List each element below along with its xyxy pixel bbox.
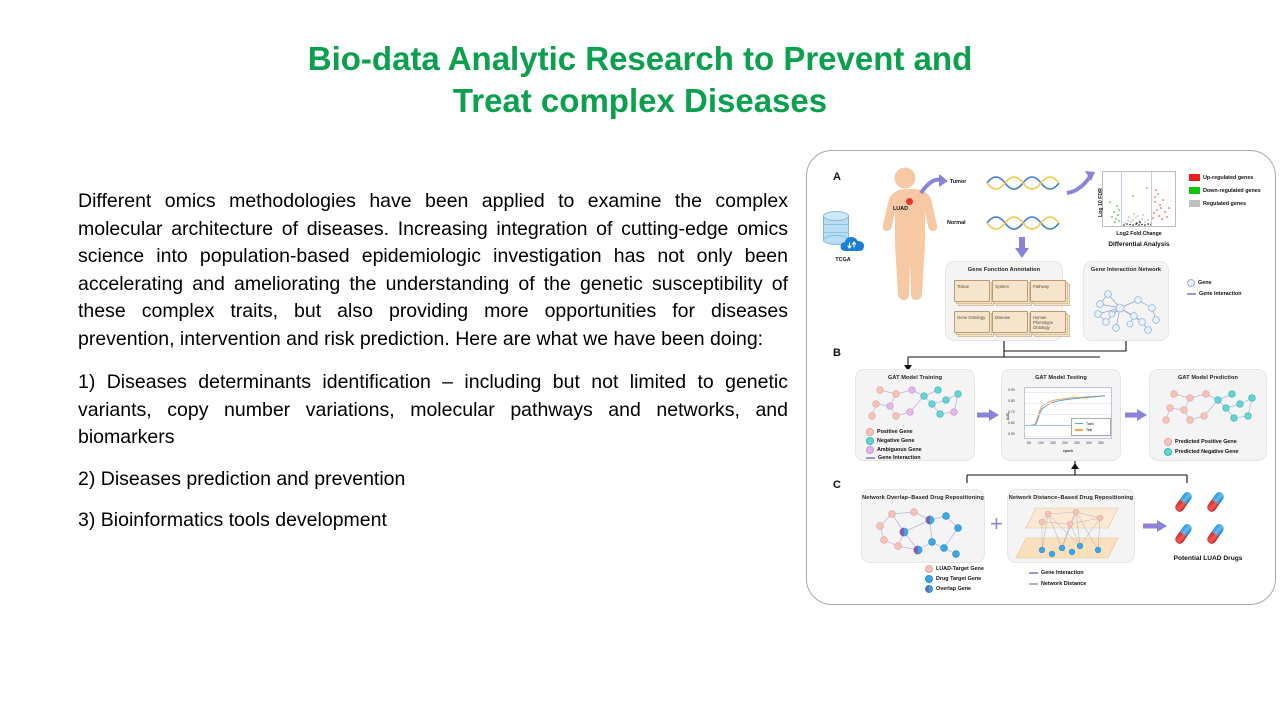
normal-label: Normal bbox=[947, 220, 966, 226]
swatch-regulated bbox=[1189, 200, 1200, 207]
intro-paragraph: Different omics methodologies have been … bbox=[78, 188, 788, 353]
distance-graph bbox=[1014, 504, 1130, 562]
auc-xtick: 200 bbox=[1062, 441, 1068, 445]
auc-xtick: 350 bbox=[1098, 441, 1104, 445]
legend-label: Predicted Negative Gene bbox=[1175, 449, 1239, 455]
gat-model-training-card: GAT Model Training bbox=[855, 369, 975, 461]
luad-marker-dot bbox=[906, 198, 913, 205]
volcano-caption: Differential Analysis bbox=[1095, 241, 1183, 248]
swatch-negative-gene bbox=[866, 437, 874, 445]
swatch-drug-target-gene bbox=[925, 575, 933, 583]
annotation-card: Pathway bbox=[1030, 280, 1066, 302]
legend-label: Predicted Positive Gene bbox=[1175, 439, 1237, 445]
auc-xtick: 250 bbox=[1074, 441, 1080, 445]
swatch-network-distance bbox=[1029, 583, 1038, 584]
legend-label: Up-regulated genes bbox=[1203, 175, 1253, 181]
arrow-to-annotation-icon bbox=[1015, 237, 1029, 259]
title-line-2: Treat complex Diseases bbox=[140, 80, 1140, 122]
volcano-x-axis-label: Log2 Fold Change bbox=[1102, 231, 1176, 237]
gene-interaction-network-card: Gene Interaction Network bbox=[1083, 261, 1169, 341]
legend-label: Positive Gene bbox=[877, 429, 913, 435]
auc-plot: Train Test bbox=[1024, 387, 1112, 439]
legend-item-regulated: Regulated genes bbox=[1189, 200, 1246, 207]
legend-label: Train bbox=[1086, 422, 1094, 426]
legend-label: Overlap Gene bbox=[936, 586, 971, 592]
legend-item-drug-target-gene: Drug Target Gene bbox=[925, 575, 981, 583]
swatch-positive-gene bbox=[866, 428, 874, 436]
legend-item-gene-interaction: Gene Interaction bbox=[1029, 570, 1084, 576]
volcano-points bbox=[1103, 172, 1177, 228]
page-title: Bio-data Analytic Research to Prevent an… bbox=[140, 38, 1140, 122]
drug-capsule-icon bbox=[1174, 490, 1194, 513]
legend-label: Test bbox=[1086, 428, 1092, 432]
legend-item-predicted-positive: Predicted Positive Gene bbox=[1164, 438, 1237, 446]
connector-b-to-c bbox=[915, 461, 1195, 491]
card-title: Gene Interaction Network bbox=[1084, 267, 1168, 273]
legend-item-predicted-negative: Predicted Negative Gene bbox=[1164, 448, 1239, 456]
arrow-to-tumor-icon bbox=[919, 173, 949, 197]
tumor-label: Tumor bbox=[950, 179, 966, 185]
panel-label-c: C bbox=[833, 479, 841, 491]
connector-a-to-b bbox=[903, 341, 1133, 371]
swatch-overlap-gene bbox=[925, 585, 933, 593]
gat-model-testing-card: GAT Model Testing Train Test bbox=[1001, 369, 1121, 461]
legend-label: Down-regulated genes bbox=[1203, 188, 1261, 194]
legend-label: Gene bbox=[1198, 280, 1211, 286]
volcano-y-axis-label: Log 10 FDR bbox=[1098, 188, 1104, 217]
body-text-column: Different omics methodologies have been … bbox=[78, 188, 788, 549]
panel-label-a: A bbox=[833, 171, 841, 183]
drug-capsule-icon bbox=[1206, 522, 1226, 545]
card-title: GAT Model Prediction bbox=[1150, 375, 1266, 381]
swatch-gene-interaction bbox=[1029, 572, 1038, 573]
annotation-card: Disease bbox=[992, 311, 1028, 333]
gene-function-annotation-card: Gene Function Annotation Tissue System P… bbox=[945, 261, 1063, 341]
card-title: GAT Model Training bbox=[856, 375, 974, 381]
list-item: 2) Diseases prediction and prevention bbox=[78, 466, 788, 494]
legend-label: Ambiguous Gene bbox=[877, 447, 922, 453]
legend-item-gene-interaction: Gene Interaction bbox=[1187, 291, 1242, 297]
prediction-graph bbox=[1160, 386, 1262, 434]
database-label: TCGA bbox=[823, 257, 863, 263]
auc-ytick: 0.60 bbox=[1008, 421, 1015, 425]
auc-x-axis-label: epoch bbox=[1024, 449, 1112, 453]
card-title: GAT Model Testing bbox=[1002, 375, 1120, 381]
card-title: Gene Function Annotation bbox=[946, 267, 1062, 273]
annotation-card: Tissue bbox=[954, 280, 990, 302]
swatch-down-regulated bbox=[1189, 187, 1200, 194]
legend-item-overlap-gene: Overlap Gene bbox=[925, 585, 971, 593]
auc-xtick: 300 bbox=[1086, 441, 1092, 445]
network-overlap-card: Network Overlap–Based Drug Repositioning bbox=[861, 489, 985, 563]
legend-label: Gene Interaction bbox=[1041, 570, 1084, 576]
panel-label-b: B bbox=[833, 347, 841, 359]
arrow-training-to-testing-icon bbox=[977, 409, 999, 421]
legend-item-gene-interaction: Gene Interaction bbox=[866, 455, 921, 461]
overlap-graph bbox=[870, 504, 978, 562]
swatch-up-regulated bbox=[1189, 174, 1200, 181]
legend-item-ambiguous-gene: Ambiguous Gene bbox=[866, 446, 922, 454]
legend-label: Network Distance bbox=[1041, 581, 1086, 587]
swatch-gene-interaction bbox=[1187, 293, 1196, 294]
arrow-to-volcano-icon bbox=[1065, 169, 1099, 197]
legend-item-negative-gene: Negative Gene bbox=[866, 437, 914, 445]
potential-drugs-label: Potential LUAD Drugs bbox=[1155, 555, 1261, 562]
auc-ytick: 0.80 bbox=[1008, 399, 1015, 403]
legend-label: Drug Target Gene bbox=[936, 576, 981, 582]
auc-y-axis-label: AUC bbox=[1006, 413, 1010, 420]
network-distance-card: Network Distance–Based Drug Repositionin… bbox=[1007, 489, 1135, 563]
auc-xtick: 100 bbox=[1038, 441, 1044, 445]
cloud-sync-icon bbox=[840, 235, 865, 253]
legend-label: Regulated genes bbox=[1203, 201, 1246, 207]
luad-label: LUAD bbox=[893, 206, 908, 212]
legend-label: Gene Interaction bbox=[1199, 291, 1242, 297]
dna-helix-normal-icon bbox=[987, 215, 1059, 231]
swatch-ambiguous-gene bbox=[866, 446, 874, 454]
swatch-test bbox=[1075, 429, 1083, 430]
workflow-figure: A TCGA LUAD Tumor Normal bbox=[806, 150, 1276, 605]
annotation-card: Gene Ontology bbox=[954, 311, 990, 333]
title-line-1: Bio-data Analytic Research to Prevent an… bbox=[308, 40, 972, 77]
swatch-gene bbox=[1187, 279, 1195, 287]
auc-legend: Train Test bbox=[1071, 418, 1111, 436]
annotation-card: System bbox=[992, 280, 1028, 302]
drug-capsule-icon bbox=[1206, 490, 1226, 513]
swatch-predicted-negative bbox=[1164, 448, 1172, 456]
drug-capsule-icon bbox=[1174, 522, 1194, 545]
swatch-predicted-positive bbox=[1164, 438, 1172, 446]
legend-item-up-regulated: Up-regulated genes bbox=[1189, 174, 1253, 181]
network-graph bbox=[1090, 278, 1164, 338]
swatch-train bbox=[1075, 423, 1083, 424]
legend-item-network-distance: Network Distance bbox=[1029, 581, 1086, 587]
card-title: Network Distance–Based Drug Repositionin… bbox=[1008, 495, 1134, 501]
legend-item-gene: Gene bbox=[1187, 279, 1211, 287]
legend-item-positive-gene: Positive Gene bbox=[866, 428, 913, 436]
slide-root: Bio-data Analytic Research to Prevent an… bbox=[0, 0, 1280, 720]
swatch-luad-target-gene bbox=[925, 565, 933, 573]
legend-label: LUAD-Target Gene bbox=[936, 566, 984, 572]
card-title: Network Overlap–Based Drug Repositioning bbox=[862, 495, 984, 501]
training-graph bbox=[866, 384, 970, 426]
legend-item-down-regulated: Down-regulated genes bbox=[1189, 187, 1261, 194]
legend-label: Negative Gene bbox=[877, 438, 914, 444]
auc-xtick: 50 bbox=[1027, 441, 1031, 445]
list-item: 1) Diseases determinants identification … bbox=[78, 369, 788, 452]
arrow-to-drugs-icon bbox=[1143, 520, 1167, 532]
swatch-gene-interaction bbox=[866, 457, 875, 458]
auc-xtick: 150 bbox=[1050, 441, 1056, 445]
volcano-plot bbox=[1102, 171, 1176, 227]
plus-operator: + bbox=[990, 513, 1003, 535]
arrow-testing-to-prediction-icon bbox=[1125, 409, 1147, 421]
gat-model-prediction-card: GAT Model Prediction bbox=[1149, 369, 1267, 461]
auc-ytick: 0.50 bbox=[1008, 432, 1015, 436]
auc-ytick: 0.90 bbox=[1008, 388, 1015, 392]
annotation-card: Human Phenotype Ontology bbox=[1030, 311, 1066, 333]
list-item: 3) Bioinformatics tools development bbox=[78, 507, 788, 535]
legend-item-luad-target-gene: LUAD-Target Gene bbox=[925, 565, 984, 573]
dna-helix-tumor-icon bbox=[987, 175, 1059, 191]
